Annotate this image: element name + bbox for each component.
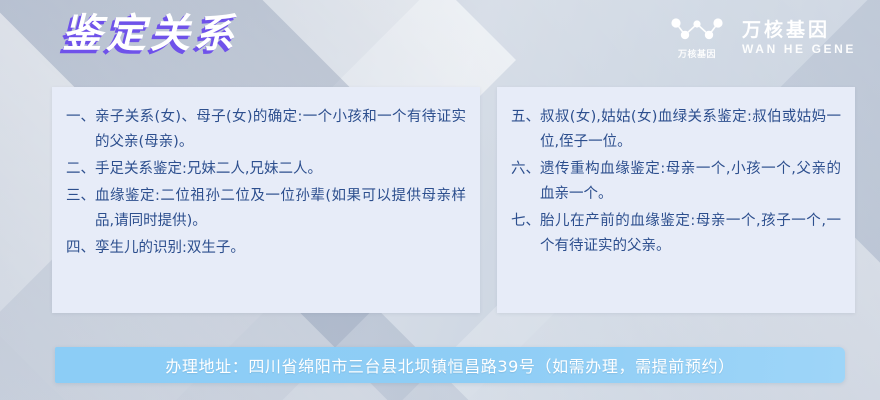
address-text: 办理地址：四川省绵阳市三台县北坝镇恒昌路39号（如需办理，需提前预约） xyxy=(165,353,734,377)
left-panel: 一、 亲子关系(女)、母子(女)的确定:一个小孩和一个有待证实的父亲(母亲)。 … xyxy=(52,87,480,313)
content-panels: 一、 亲子关系(女)、母子(女)的确定:一个小孩和一个有待证实的父亲(母亲)。 … xyxy=(52,87,855,313)
brand-logo: 万核基因 万核基因 WAN HE GENE xyxy=(668,16,856,60)
list-item-number: 五、 xyxy=(511,105,540,130)
list-item: 六、 遗传重构血缘鉴定:母亲一个,小孩一个,父亲的血亲一个。 xyxy=(511,157,841,207)
brand-mark: 万核基因 xyxy=(668,16,726,60)
brand-mark-label: 万核基因 xyxy=(678,47,716,60)
address-bar: 办理地址：四川省绵阳市三台县北坝镇恒昌路39号（如需办理，需提前预约） xyxy=(55,347,845,383)
list-item: 四、 孪生儿的识别:双生子。 xyxy=(66,236,466,261)
list-item-text: 亲子关系(女)、母子(女)的确定:一个小孩和一个有待证实的父亲(母亲)。 xyxy=(95,105,466,155)
list-item-number: 一、 xyxy=(66,105,95,130)
list-item: 一、 亲子关系(女)、母子(女)的确定:一个小孩和一个有待证实的父亲(母亲)。 xyxy=(66,105,466,155)
list-item: 五、 叔叔(女),姑姑(女)血绿关系鉴定:叔伯或姑妈一位,侄子一位。 xyxy=(511,105,841,155)
list-item-text: 遗传重构血缘鉴定:母亲一个,小孩一个,父亲的血亲一个。 xyxy=(540,157,841,207)
list-item: 三、 血缘鉴定:二位祖孙二位及一位孙辈(如果可以提供母亲样品,请同时提供)。 xyxy=(66,184,466,234)
right-panel-list: 五、 叔叔(女),姑姑(女)血绿关系鉴定:叔伯或姑妈一位,侄子一位。 六、 遗传… xyxy=(511,105,841,259)
list-item-number: 四、 xyxy=(66,236,95,261)
list-item-text: 血缘鉴定:二位祖孙二位及一位孙辈(如果可以提供母亲样品,请同时提供)。 xyxy=(95,184,466,234)
list-item-number: 二、 xyxy=(66,157,95,182)
right-panel: 五、 叔叔(女),姑姑(女)血绿关系鉴定:叔伯或姑妈一位,侄子一位。 六、 遗传… xyxy=(497,87,855,313)
poster-canvas: 鉴定关系 xyxy=(0,0,880,400)
list-item: 二、 手足关系鉴定:兄妹二人,兄妹二人。 xyxy=(66,157,466,182)
list-item-text: 叔叔(女),姑姑(女)血绿关系鉴定:叔伯或姑妈一位,侄子一位。 xyxy=(540,105,841,155)
left-panel-list: 一、 亲子关系(女)、母子(女)的确定:一个小孩和一个有待证实的父亲(母亲)。 … xyxy=(66,105,466,261)
brand-name-en: WAN HE GENE xyxy=(742,43,856,56)
list-item-text: 孪生儿的识别:双生子。 xyxy=(95,236,466,261)
page-title: 鉴定关系 xyxy=(62,14,238,54)
poster-header: 鉴定关系 xyxy=(0,0,880,86)
molecule-nodes-icon xyxy=(668,16,726,44)
list-item-text: 胎儿在产前的血缘鉴定:母亲一个,孩子一个,一个有待证实的父亲。 xyxy=(540,209,841,259)
list-item-number: 七、 xyxy=(511,209,540,234)
list-item: 七、 胎儿在产前的血缘鉴定:母亲一个,孩子一个,一个有待证实的父亲。 xyxy=(511,209,841,259)
brand-wordmark: 万核基因 WAN HE GENE xyxy=(742,20,856,55)
brand-name-cn: 万核基因 xyxy=(742,20,856,41)
list-item-text: 手足关系鉴定:兄妹二人,兄妹二人。 xyxy=(95,157,466,182)
list-item-number: 三、 xyxy=(66,184,95,209)
list-item-number: 六、 xyxy=(511,157,540,182)
